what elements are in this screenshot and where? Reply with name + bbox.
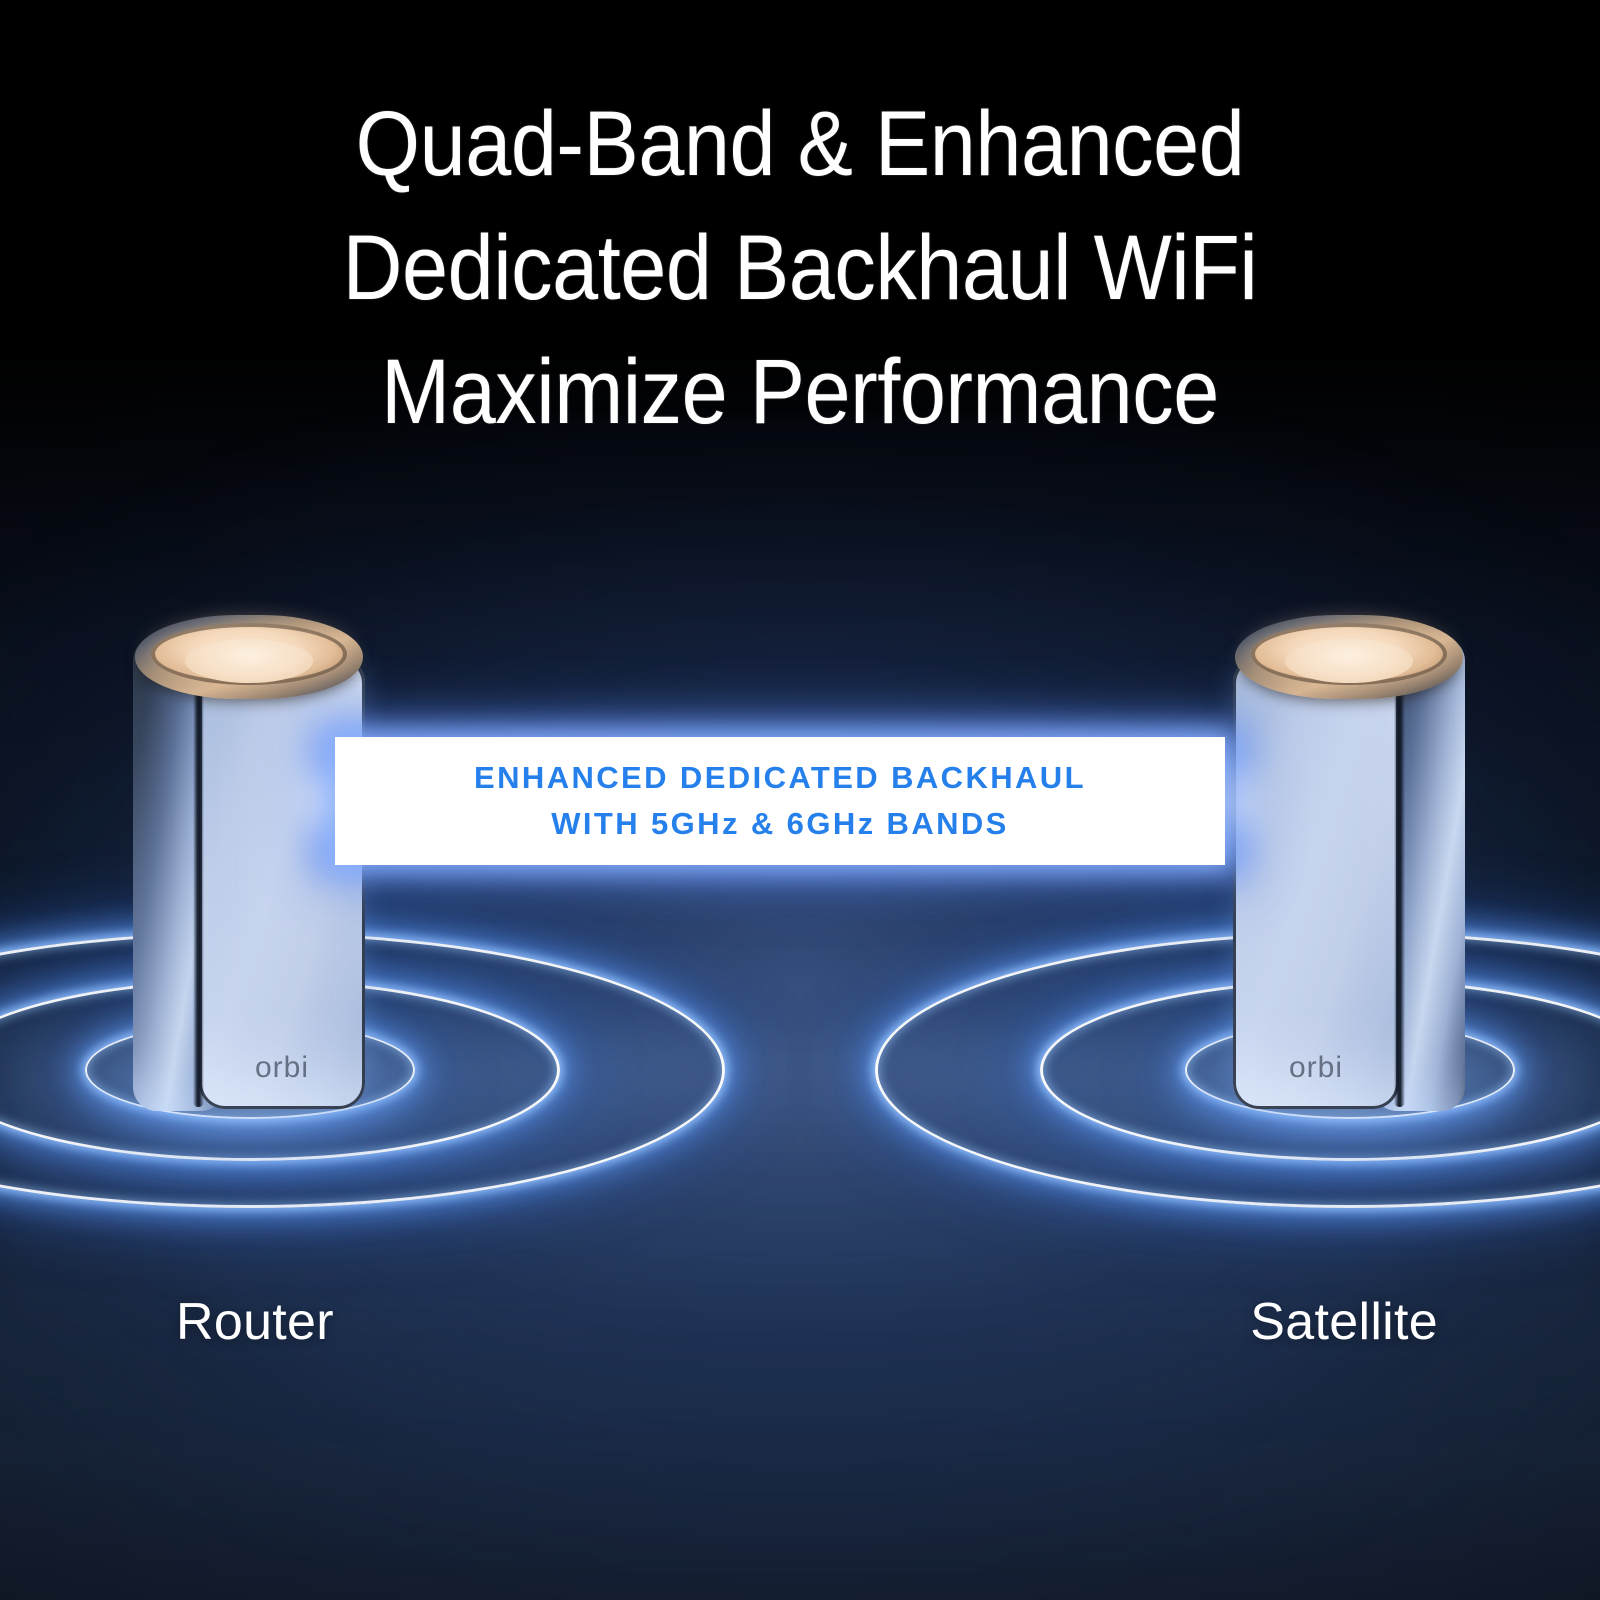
satellite-device: orbi bbox=[1233, 615, 1465, 1115]
backhaul-banner: ENHANCED DEDICATED BACKHAUL WITH 5GHz & … bbox=[335, 737, 1225, 865]
router-caption: Router bbox=[176, 1292, 334, 1352]
banner-panel: ENHANCED DEDICATED BACKHAUL WITH 5GHz & … bbox=[335, 737, 1225, 865]
satellite-brand-logo: orbi bbox=[1233, 1051, 1465, 1085]
marketing-hero-image: Quad-Band & Enhanced Dedicated Backhaul … bbox=[0, 0, 1600, 1600]
headline-line-1: Quad-Band & Enhanced bbox=[80, 82, 1520, 206]
satellite-status-light-core-icon bbox=[1285, 639, 1413, 683]
banner-line-1: ENHANCED DEDICATED BACKHAUL bbox=[474, 755, 1086, 801]
headline-line-2: Dedicated Backhaul WiFi bbox=[80, 206, 1520, 330]
satellite-body: orbi bbox=[1233, 615, 1465, 1115]
satellite-edge-seam bbox=[1394, 659, 1405, 1107]
router-status-light-core-icon bbox=[185, 639, 313, 683]
page-title: Quad-Band & Enhanced Dedicated Backhaul … bbox=[80, 82, 1520, 454]
router-edge-seam bbox=[193, 659, 204, 1107]
satellite-status-light-ring-icon bbox=[1251, 623, 1447, 685]
router-top-cap bbox=[135, 615, 363, 699]
headline-line-3: Maximize Performance bbox=[80, 330, 1520, 454]
router-status-light-ring-icon bbox=[151, 623, 347, 685]
satellite-caption: Satellite bbox=[1250, 1292, 1438, 1352]
router-brand-logo: orbi bbox=[133, 1051, 365, 1085]
banner-line-2: WITH 5GHz & 6GHz BANDS bbox=[551, 801, 1009, 847]
satellite-front-face bbox=[1233, 657, 1399, 1109]
satellite-top-cap bbox=[1235, 615, 1463, 699]
